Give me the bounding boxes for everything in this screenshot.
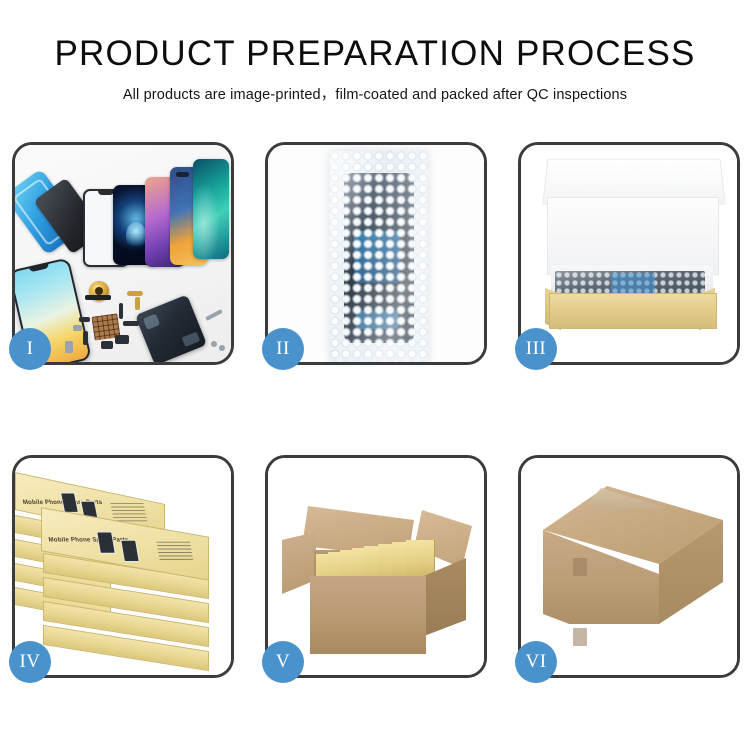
step-badge-2: II [262, 328, 304, 370]
step-image-1 [15, 145, 231, 362]
process-steps-grid: I II [12, 142, 738, 678]
spare-part-flex-3 [123, 321, 139, 326]
spare-part-flex-2 [135, 297, 140, 310]
page-subtitle: All products are image-printed，film-coat… [0, 83, 750, 104]
spare-part-button [101, 341, 113, 349]
teal-swirl-phone [193, 159, 229, 259]
spare-part-flex-1 [127, 291, 143, 296]
step-image-3 [521, 145, 737, 362]
spare-part-sim-tray [65, 341, 73, 353]
plastic-sheen [330, 151, 428, 362]
step-badge-3: III [515, 328, 557, 370]
step-image-4: Mobile Phone Spare Parts Mobile Phone Sp… [15, 458, 231, 675]
step-badge-6: VI [515, 641, 557, 683]
box-front-wall [549, 293, 717, 329]
scene-sealed-carton [521, 458, 737, 675]
spare-part-screw-2 [219, 345, 225, 351]
box-phone-graphic-4 [120, 540, 140, 562]
carton-front-face [310, 576, 426, 654]
step-badge-4: IV [9, 641, 51, 683]
carton-hand-hole-lower [573, 628, 587, 646]
spare-part-screw-1 [211, 341, 217, 347]
bubble-wrap-sleeve [330, 151, 428, 362]
step-panel-6: VI [518, 455, 740, 678]
step-panel-1: I [12, 142, 234, 365]
spare-part-strip [85, 295, 111, 300]
scene-phone-parts [15, 145, 231, 362]
step-badge-5: V [262, 641, 304, 683]
step-image-6 [521, 458, 737, 675]
packed-box-8 [406, 540, 421, 580]
spare-part-connector-1 [119, 303, 123, 319]
box-phone-graphic-1 [60, 492, 79, 512]
scene-bubble-wrap [268, 145, 484, 362]
page-header: PRODUCT PREPARATION PROCESS All products… [0, 34, 750, 104]
step-image-5 [268, 458, 484, 675]
step-panel-3: III [518, 142, 740, 365]
spare-part-bracket-1 [73, 325, 82, 331]
scene-open-carton [268, 458, 484, 675]
step-panel-4: Mobile Phone Spare Parts Mobile Phone Sp… [12, 455, 234, 678]
scene-open-mailer [521, 145, 737, 362]
step-panel-2: II [265, 142, 487, 365]
box-label-front: Mobile Phone Spare Parts [48, 537, 129, 544]
spare-part-speaker [115, 335, 129, 344]
spare-part-ribbon-1 [83, 331, 88, 345]
product-preparation-page: PRODUCT PREPARATION PROCESS All products… [0, 0, 750, 750]
spare-part-connector-2 [79, 317, 90, 322]
scene-stacked-boxes: Mobile Phone Spare Parts Mobile Phone Sp… [15, 458, 231, 675]
page-title: PRODUCT PREPARATION PROCESS [0, 34, 750, 74]
step-panel-5: V [265, 455, 487, 678]
box-phone-graphic-3 [96, 531, 116, 553]
step-image-2 [268, 145, 484, 362]
box-back-wall [547, 197, 719, 275]
step-badge-1: I [9, 328, 51, 370]
carton-hand-hole-upper [573, 558, 587, 576]
box-spec-lines-front [157, 542, 194, 562]
